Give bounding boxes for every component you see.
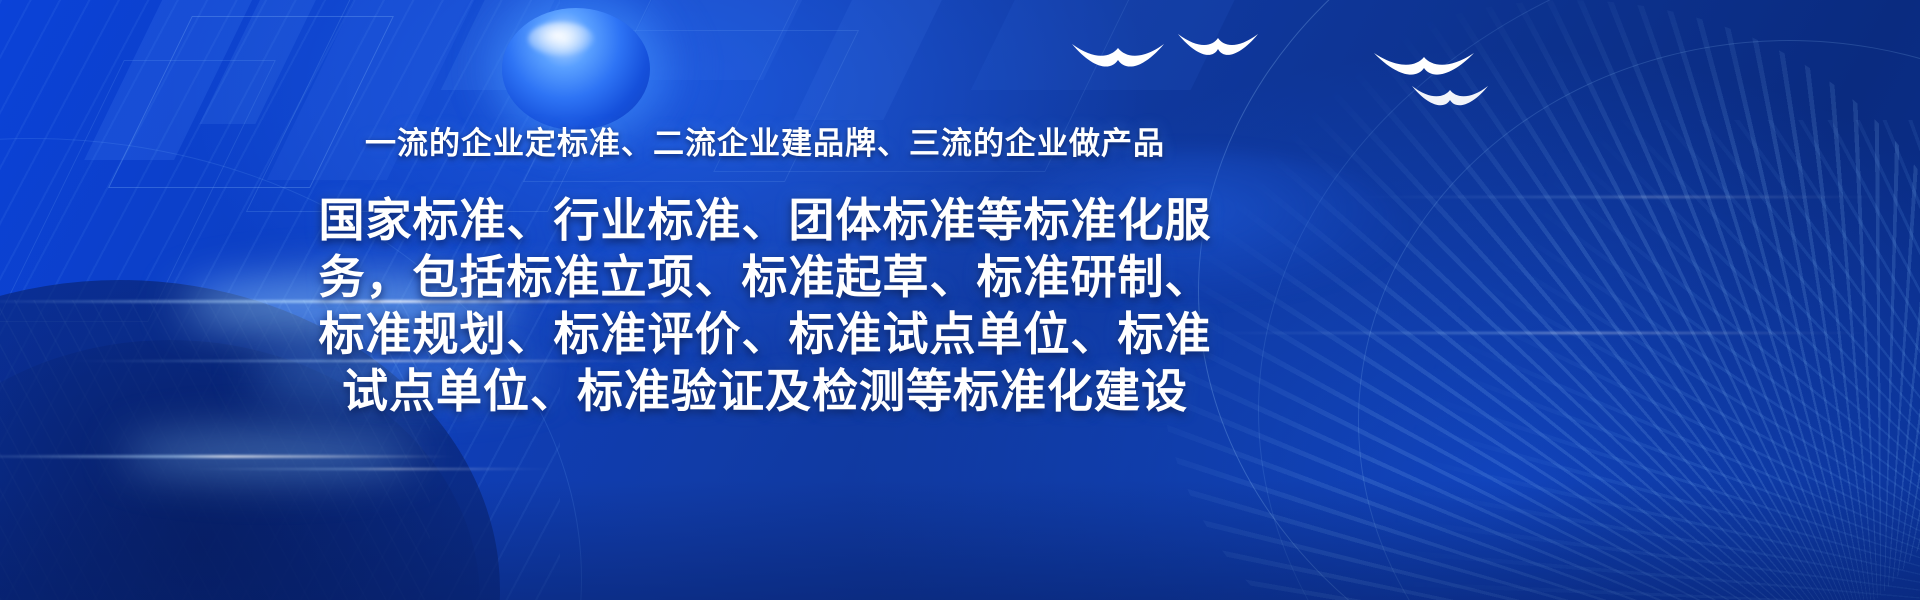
- banner-body-line-3: 标准规划、标准评价、标准试点单位、标准: [0, 306, 1530, 363]
- promo-banner: 一流的企业定标准、二流企业建品牌、三流的企业做产品 国家标准、行业标准、团体标准…: [0, 0, 1920, 600]
- banner-text-area: 一流的企业定标准、二流企业建品牌、三流的企业做产品 国家标准、行业标准、团体标准…: [0, 0, 1920, 600]
- banner-body: 国家标准、行业标准、团体标准等标准化服 务，包括标准立项、标准起草、标准研制、 …: [0, 192, 1530, 420]
- banner-body-line-1: 国家标准、行业标准、团体标准等标准化服: [0, 192, 1530, 249]
- banner-headline: 一流的企业定标准、二流企业建品牌、三流的企业做产品: [0, 118, 1530, 163]
- banner-body-line-4: 试点单位、标准验证及检测等标准化建设: [0, 363, 1530, 420]
- banner-body-line-2: 务，包括标准立项、标准起草、标准研制、: [0, 249, 1530, 306]
